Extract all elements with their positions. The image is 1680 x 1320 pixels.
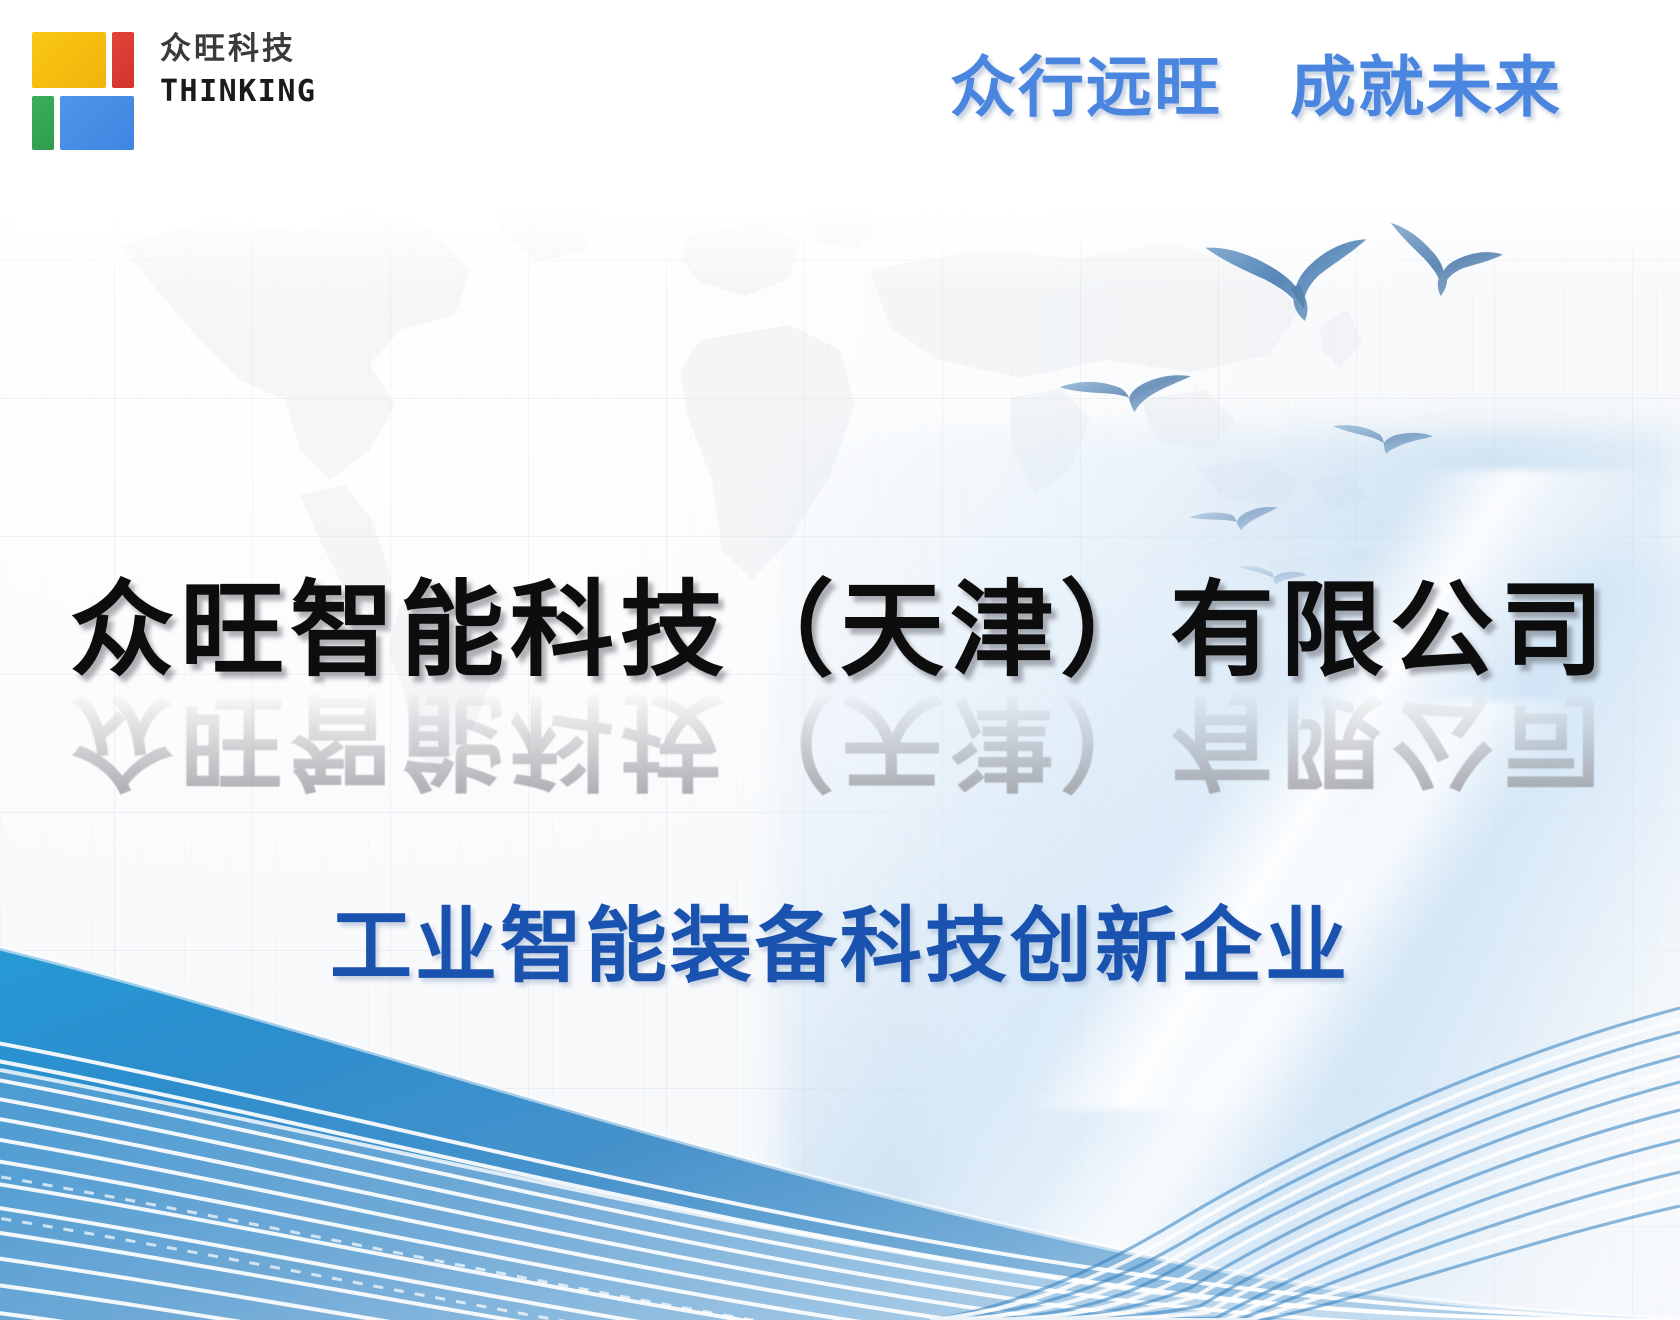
page-title-reflection: 众旺智能科技（天津）有限公司 bbox=[0, 682, 1680, 798]
page-title: 众旺智能科技（天津）有限公司 bbox=[0, 572, 1680, 688]
seagull-icon bbox=[1328, 412, 1435, 466]
seagull-icon bbox=[1055, 353, 1197, 435]
logo-blocks bbox=[32, 32, 144, 150]
logo-wordmark: 众旺科技 THINKING bbox=[160, 34, 310, 107]
green-block-icon bbox=[32, 96, 54, 150]
company-logo[interactable]: 众旺科技 THINKING bbox=[32, 32, 302, 152]
flowing-lines-decoration bbox=[860, 900, 1680, 1320]
seagull-icon bbox=[1377, 214, 1509, 309]
blue-block-icon bbox=[60, 96, 134, 150]
red-block-icon bbox=[112, 32, 134, 88]
yellow-block-icon bbox=[32, 32, 106, 88]
logo-name-en: THINKING bbox=[160, 77, 310, 107]
header-tagline: 众行远旺 成就未来 bbox=[950, 52, 1530, 125]
logo-name-cn: 众旺科技 bbox=[160, 34, 310, 65]
title-block: 众旺智能科技（天津）有限公司 众旺智能科技（天津）有限公司 bbox=[0, 572, 1680, 832]
slide-canvas: 众旺科技 THINKING 众行远旺 成就未来 众旺智能科技（天津）有限公司 众… bbox=[0, 0, 1680, 1320]
